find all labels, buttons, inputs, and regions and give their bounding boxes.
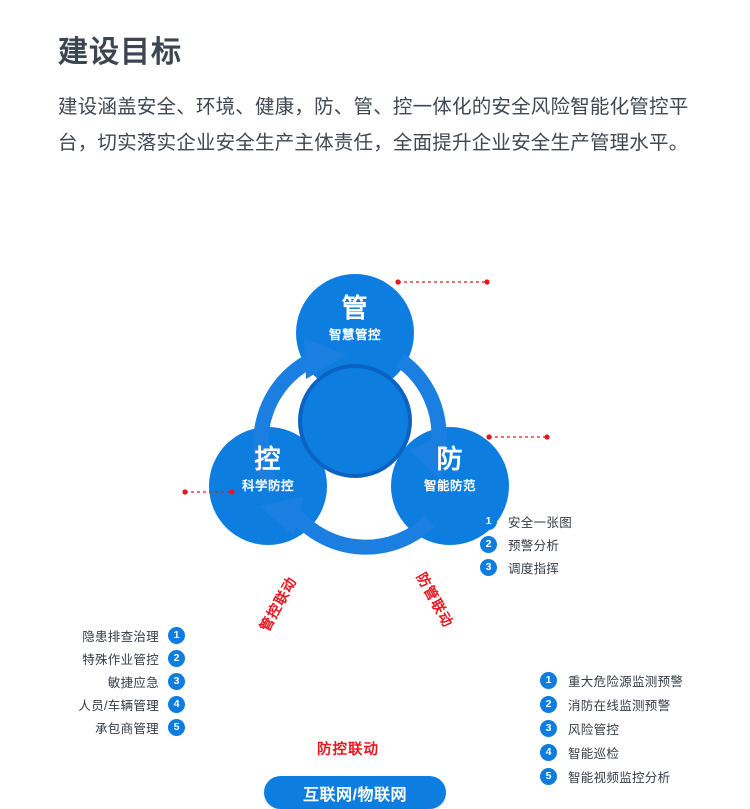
- center-label: 大数据: [302, 644, 408, 670]
- list-item-number-badge: 5: [168, 719, 185, 736]
- page-description: 建设涵盖安全、环境、健康，防、管、控一体化的安全风险智能化管控平台，切实落实企业…: [58, 89, 698, 161]
- list-item-number-badge: 4: [540, 744, 557, 761]
- list-item-label: 智能巡检: [568, 743, 619, 762]
- feature-list-guan: 1安全一张图2预警分析3调度指挥: [480, 510, 572, 579]
- list-item-label: 敏捷应急: [108, 672, 159, 691]
- connector-dot-left-inner: [229, 489, 234, 494]
- list-item[interactable]: 2预警分析: [480, 533, 572, 556]
- list-item[interactable]: 1安全一张图: [480, 510, 572, 533]
- list-item-label: 隐患排查治理: [82, 626, 159, 645]
- list-item-label: 预警分析: [508, 535, 559, 554]
- list-item-label: 安全一张图: [508, 512, 572, 531]
- list-item-number-badge: 3: [168, 673, 185, 690]
- list-item[interactable]: 人员/车辆管理4: [80, 693, 185, 716]
- list-item-number-badge: 2: [168, 650, 185, 667]
- feature-list-kong: 隐患排查治理1特殊作业管控2敏捷应急3人员/车辆管理4承包商管理5: [80, 624, 185, 739]
- list-item-label: 智能视频监控分析: [568, 767, 670, 786]
- list-item-number-badge: 5: [540, 768, 557, 785]
- list-item[interactable]: 2消防在线监测预警: [540, 692, 683, 716]
- list-item-number-badge: 1: [168, 627, 185, 644]
- list-item-number-badge: 2: [480, 536, 497, 553]
- list-item-label: 消防在线监测预警: [568, 695, 670, 714]
- goal-diagram: 管 智慧管控 控 科学防控 防 智能防范 大数据 管控联动 防管联动 防控联动 …: [0, 238, 750, 598]
- list-item-number-badge: 3: [480, 559, 497, 576]
- list-item[interactable]: 承包商管理5: [80, 716, 185, 739]
- list-item-number-badge: 1: [480, 513, 497, 530]
- list-item[interactable]: 5智能视频监控分析: [540, 764, 683, 788]
- list-item-label: 特殊作业管控: [82, 649, 159, 668]
- list-item-label: 风险管控: [568, 719, 619, 738]
- feature-list-fang: 1重大危险源监测预警2消防在线监测预警3风险管控4智能巡检5智能视频监控分析: [540, 668, 683, 788]
- list-item-number-badge: 2: [540, 696, 557, 713]
- connector-dot-top-right: [484, 279, 489, 284]
- center-circle: [302, 368, 408, 474]
- list-item[interactable]: 1重大危险源监测预警: [540, 668, 683, 692]
- list-item-label: 承包商管理: [95, 718, 159, 737]
- list-item-label: 人员/车辆管理: [78, 695, 159, 714]
- list-item[interactable]: 3风险管控: [540, 716, 683, 740]
- list-item[interactable]: 4智能巡检: [540, 740, 683, 764]
- list-item-label: 重大危险源监测预警: [568, 671, 683, 690]
- link-label-fang-kong: 防控联动: [317, 738, 379, 759]
- page-title: 建设目标: [58, 36, 698, 69]
- list-item[interactable]: 3调度指挥: [480, 556, 572, 579]
- list-item[interactable]: 敏捷应急3: [80, 670, 185, 693]
- connector-dot-left-outer: [182, 489, 187, 494]
- list-item[interactable]: 隐患排查治理1: [80, 624, 185, 647]
- list-item[interactable]: 特殊作业管控2: [80, 647, 185, 670]
- list-item-label: 调度指挥: [508, 558, 559, 577]
- connector-dot-top-left: [395, 279, 400, 284]
- internet-iot-button[interactable]: 互联网/物联网: [264, 776, 446, 809]
- connector-dot-br-right: [544, 434, 549, 439]
- list-item-number-badge: 4: [168, 696, 185, 713]
- connector-dot-br-left: [486, 434, 491, 439]
- list-item-number-badge: 1: [540, 672, 557, 689]
- header-block: 建设目标 建设涵盖安全、环境、健康，防、管、控一体化的安全风险智能化管控平台，切…: [58, 36, 698, 161]
- list-item-number-badge: 3: [540, 720, 557, 737]
- diagram-graphics: [0, 238, 750, 598]
